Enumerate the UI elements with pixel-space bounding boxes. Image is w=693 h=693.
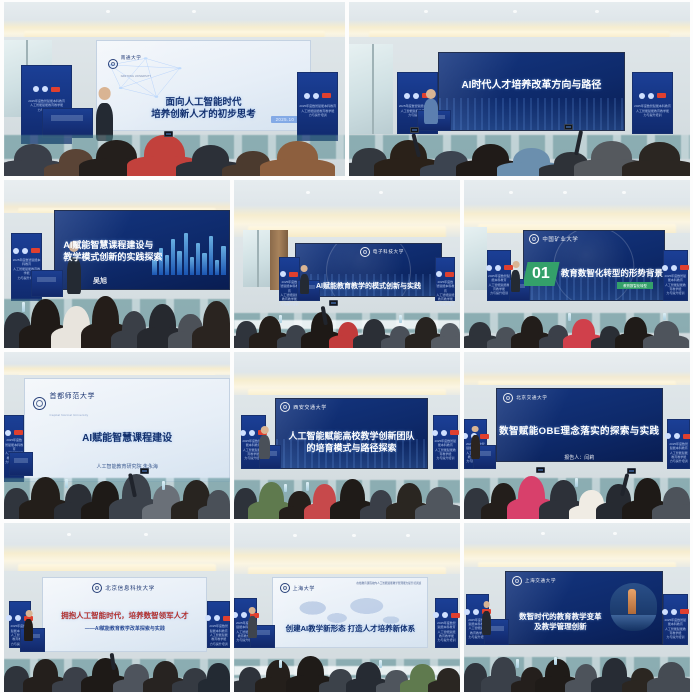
audience xyxy=(464,631,690,692)
slide-speaker: 人工智能教育研究院 朱永海 xyxy=(96,464,157,472)
collage-row-4: 北京信息科技大学 拥抱人工智能时代，培养数智领军人才 ——AI赋能教育教学改革探… xyxy=(4,523,690,692)
photo-cell-1[interactable]: 南通大学 NANTONG UNIVERSITY 面向人工智能时代 培养创新人才的… xyxy=(4,2,345,176)
audience xyxy=(4,449,230,519)
logo-mark-icon xyxy=(280,583,290,593)
logo-mark-icon xyxy=(108,59,118,69)
slide-title: AI时代人才培养改革方向与路径 xyxy=(461,79,601,92)
conference-scene: 上海交通大学 数智时代的教育教学变革 及教学管理创新 邢冬梅 2025年度数智赋… xyxy=(464,523,690,692)
logo-mark-icon xyxy=(503,393,513,403)
university-logo: 南通大学 NANTONG UNIVERSITY xyxy=(108,46,152,82)
conference-scene: 首都师范大学 Capital Normal University AI赋能智慧课… xyxy=(4,352,230,520)
logo-name-en: Capital Normal University xyxy=(49,413,88,417)
photo-cell-4[interactable]: 电子科技大学 AI赋能教育教学的模式创新与实践 西南财经大学 2025年10月2… xyxy=(234,180,460,348)
slide-title: 数智赋能OBE理念落实的探索与实践 xyxy=(499,426,659,439)
slide-title: AI赋能教育教学的模式创新与实践 xyxy=(316,282,421,291)
presentation-screen: 电子科技大学 AI赋能教育教学的模式创新与实践 西南财经大学 2025年10月2… xyxy=(295,243,442,297)
conference-scene: 北京信息科技大学 拥抱人工智能时代，培养数智领军人才 ——AI赋能教育教学改革探… xyxy=(4,523,230,692)
window xyxy=(464,227,487,291)
conference-scene: AI赋能智慧课程建设与 教学模式创新的实践探索 吴旭 2025年度数智赋能本科教… xyxy=(4,180,230,348)
campus-photo-graphic xyxy=(610,583,657,631)
window xyxy=(243,230,270,287)
slide-caption: 教育数智化转型 xyxy=(617,282,653,289)
photo-cell-7[interactable]: 西安交通大学 人工智能赋能高校教学创新团队 的培育模式与路径探索 西安交通大学 … xyxy=(234,352,460,520)
photo-cell-6[interactable]: 首都师范大学 Capital Normal University AI赋能智慧课… xyxy=(4,352,230,520)
slide-title: 人工智能赋能高校教学创新团队 的培育模式与路径探索 xyxy=(289,430,415,454)
logo-mark-icon xyxy=(512,576,522,586)
section-number: 01 xyxy=(532,265,550,283)
logo-name: 电子科技大学 xyxy=(373,249,404,255)
logo-name: 上海大学 xyxy=(293,585,315,592)
slide-subtitle: ——AI赋能教育教学改革探索与实践 xyxy=(85,626,165,634)
collage-row-1: 南通大学 NANTONG UNIVERSITY 面向人工智能时代 培养创新人才的… xyxy=(4,2,690,176)
slide-title: AI赋能智慧课程建设与 教学模式创新的实践探索 xyxy=(63,239,162,263)
logo-mark-icon xyxy=(280,402,290,412)
audience xyxy=(4,264,230,348)
audience xyxy=(4,635,230,692)
slide-title: AI赋能智慧课程建设 xyxy=(82,432,172,445)
logo-mark-icon xyxy=(529,234,539,244)
logo-name: 上海交通大学 xyxy=(525,578,556,584)
slide-speaker: 报告人：闫莉 xyxy=(564,455,594,462)
logo-mark-icon xyxy=(33,397,46,410)
logo-name: 西安交通大学 xyxy=(293,404,327,411)
collage-row-3: 首都师范大学 Capital Normal University AI赋能智慧课… xyxy=(4,352,690,520)
conference-scene: 北京交通大学 数智赋能OBE理念落实的探索与实践 报告人：闫莉 2025年10月… xyxy=(464,352,690,520)
logo-mark-icon xyxy=(92,583,102,593)
photo-cell-2[interactable]: AI时代人才培养改革方向与路径 徐雷 复旦大学 2025年10月20日 2025… xyxy=(349,2,690,176)
audience xyxy=(464,287,690,347)
logo-name: 北京信息科技大学 xyxy=(105,584,155,592)
conference-scene: 电子科技大学 AI赋能教育教学的模式创新与实践 西南财经大学 2025年10月2… xyxy=(234,180,460,348)
ceiling xyxy=(4,523,230,577)
slide-header-strip: 在线教育课程校内人工智能赋能教学管理能力提升培训班 xyxy=(356,581,421,585)
photo-cell-8[interactable]: 北京交通大学 数智赋能OBE理念落实的探索与实践 报告人：闫莉 2025年10月… xyxy=(464,352,690,520)
conference-scene: 西安交通大学 人工智能赋能高校教学创新团队 的培育模式与路径探索 西安交通大学 … xyxy=(234,352,460,520)
logo-name: 首都师范大学 xyxy=(49,393,95,400)
ceiling xyxy=(234,523,460,580)
slide-title: 创建AI教学新形态 打造人才培养新体系 xyxy=(286,624,416,634)
photo-collage: 南通大学 NANTONG UNIVERSITY 面向人工智能时代 培养创新人才的… xyxy=(0,0,693,693)
slide-title: 教育数智化转型的形势背景 xyxy=(561,268,663,279)
audience xyxy=(234,452,460,519)
photo-cell-9[interactable]: 北京信息科技大学 拥抱人工智能时代，培养数智领军人才 ——AI赋能教育教学改革探… xyxy=(4,523,230,692)
slide-title: 数智时代的教育教学变革 及教学管理创新 xyxy=(519,612,602,632)
photo-cell-11[interactable]: 上海交通大学 数智时代的教育教学变革 及教学管理创新 邢冬梅 2025年度数智赋… xyxy=(464,523,690,692)
conference-scene: 上海大学 在线教育课程校内人工智能赋能教学管理能力提升培训班 创建AI教学新形态… xyxy=(234,523,460,692)
conference-scene: 中国矿业大学 01 教育数智化转型的形势背景 教育数智化转型 2025年度数智赋… xyxy=(464,180,690,348)
conference-scene: AI时代人才培养改革方向与路径 徐雷 复旦大学 2025年10月20日 2025… xyxy=(349,2,690,176)
slide-speaker: 吴旭 xyxy=(93,277,107,288)
photo-cell-5[interactable]: 中国矿业大学 01 教育数智化转型的形势背景 教育数智化转型 2025年度数智赋… xyxy=(464,180,690,348)
section-number-tag: 01 xyxy=(523,262,560,286)
audience xyxy=(234,287,460,347)
logo-name: 中国矿业大学 xyxy=(542,235,578,243)
audience xyxy=(234,635,460,692)
photo-cell-10[interactable]: 上海大学 在线教育课程校内人工智能赋能教学管理能力提升培训班 创建AI教学新形态… xyxy=(234,523,460,692)
slide-title: 拥抱人工智能时代，培养数智领军人才 xyxy=(61,611,189,621)
logo-name-en: NANTONG UNIVERSITY xyxy=(121,75,152,78)
audience xyxy=(349,106,690,176)
logo-name: 北京交通大学 xyxy=(516,395,547,401)
logo-mark-icon xyxy=(360,247,370,257)
logo-name: 南通大学 xyxy=(121,55,142,60)
slide-title: 面向人工智能时代 培养创新人才的初步思考 xyxy=(151,97,256,122)
conference-scene: 南通大学 NANTONG UNIVERSITY 面向人工智能时代 培养创新人才的… xyxy=(4,2,345,176)
photo-cell-3[interactable]: AI赋能智慧课程建设与 教学模式创新的实践探索 吴旭 2025年度数智赋能本科教… xyxy=(4,180,230,348)
collage-row-2: AI赋能智慧课程建设与 教学模式创新的实践探索 吴旭 2025年度数智赋能本科教… xyxy=(4,180,690,348)
